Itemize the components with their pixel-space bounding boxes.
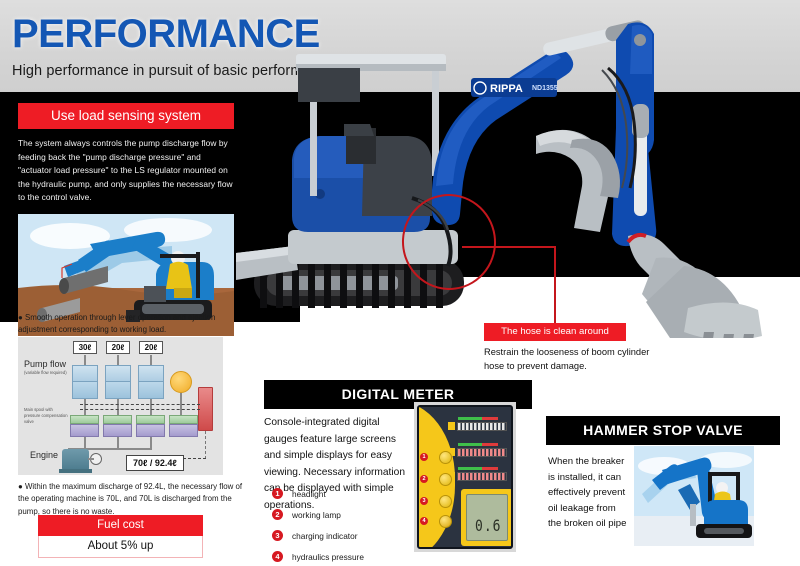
spool-green-4 (169, 415, 198, 424)
pump-column-3 (138, 365, 164, 399)
tag-connector-2 (117, 355, 119, 365)
pump-to-spool-3 (150, 399, 152, 415)
feedback-dash-2 (80, 409, 200, 410)
hammer-stop-valve-block: HAMMER STOP VALVE When the breaker is in… (546, 416, 780, 445)
engine-base (59, 469, 92, 473)
lcd-hour-meter-value: 0.6 (475, 517, 501, 536)
engine-block (62, 449, 89, 470)
tag-connector-1 (84, 355, 86, 365)
legend-number: 2 (272, 509, 283, 520)
svg-text:ND1355: ND1355 (532, 85, 558, 92)
legend-item-charging-indicator: 3 charging indicator (272, 530, 364, 541)
badge-1: 1 (420, 453, 428, 461)
hose-callout: The hose is clean around Restrain the lo… (484, 323, 626, 374)
legend-label: hydraulics pressure (292, 552, 364, 562)
badge-4: 4 (420, 517, 428, 525)
pump-column-2 (105, 365, 131, 399)
callout-leader-horizontal (462, 246, 556, 248)
legend-label: headlight (292, 489, 326, 499)
pump-box-top (105, 365, 131, 382)
gauge-segments (457, 472, 507, 481)
control-valve-bar (198, 387, 213, 431)
fuel-icon (448, 422, 455, 430)
pump-column-1 (72, 365, 98, 399)
output-flow-tag: 70ℓ / 92.4ℓ (126, 455, 184, 471)
spool-purple-2 (103, 424, 132, 437)
gauge-segments (457, 448, 507, 457)
hose-callout-text: Restrain the looseness of boom cylinder … (484, 346, 664, 374)
hammer-stop-body: When the breaker is installed, it can ef… (548, 454, 628, 532)
spool-green-2 (103, 415, 132, 424)
knob-hydraulics-pressure[interactable] (439, 515, 452, 528)
engine-label: Engine (30, 450, 58, 460)
pump-flow-sublabel: (variable flow required) (24, 370, 67, 375)
badge-3: 3 (420, 497, 428, 505)
breaker-excavator-illustration (634, 446, 754, 546)
load-sensing-block: Use load sensing system The system alway… (18, 103, 234, 336)
load-sensing-note: ● Smooth operation through lever operati… (18, 312, 240, 337)
pump-box-top (138, 365, 164, 382)
pump-shaft (88, 458, 94, 460)
callout-leader-vertical (554, 246, 556, 324)
pump-box-bottom (72, 382, 98, 399)
gauge-segments (457, 422, 507, 431)
lcd-bezel: 0.6 (461, 489, 513, 546)
hero-excavator-photo: RIPPA ND1355 (236, 8, 800, 338)
lcd-screen: 0.6 (466, 494, 508, 541)
spool-purple-3 (136, 424, 165, 437)
gauge-temp (447, 445, 513, 458)
legend-item-working-lamp: 2 working lamp (272, 509, 364, 520)
fuel-cost-value: About 5% up (38, 536, 203, 558)
hammer-stop-photo (634, 446, 754, 546)
gauge-scale-top (458, 467, 498, 470)
flow-tag-1: 30ℓ (73, 341, 97, 354)
spool-green-3 (136, 415, 165, 424)
gauge-oil (447, 469, 513, 482)
badge-2: 2 (420, 475, 428, 483)
pump-to-spool-2 (117, 399, 119, 415)
knob-headlight[interactable] (439, 451, 452, 464)
meter-faceplate: 1 2 3 4 0.6 (417, 405, 513, 549)
digital-meter-legend: 1 headlight 2 working lamp 3 charging in… (272, 488, 364, 566)
controlvalve-return-dash (205, 431, 206, 459)
excavator-illustration: RIPPA ND1355 (236, 8, 800, 338)
pump-box-bottom (138, 382, 164, 399)
pump-flow-label: Pump flow (24, 359, 66, 369)
fuel-cost-box: Fuel cost About 5% up (38, 515, 203, 558)
knob-charging-indicator[interactable] (439, 495, 452, 508)
fuel-cost-banner: Fuel cost (38, 515, 203, 536)
poster-page: PERFORMANCE High performance in pursuit … (0, 0, 800, 566)
legend-item-hydraulics-pressure: 4 hydraulics pressure (272, 551, 364, 562)
legend-number: 1 (272, 488, 283, 499)
tag-connector-3 (150, 355, 152, 365)
pump-to-spool-1 (84, 399, 86, 415)
gauge-scale-top (458, 417, 498, 420)
flow-tag-2: 20ℓ (106, 341, 130, 354)
legend-label: charging indicator (292, 531, 358, 541)
pump-box-bottom (105, 382, 131, 399)
load-sensing-body: The system always controls the pump disc… (18, 137, 234, 205)
spool-purple-1 (70, 424, 99, 437)
svg-text:RIPPA: RIPPA (490, 83, 523, 95)
digital-meter-block: DIGITAL METER Console-integrated digital… (264, 380, 532, 409)
schematic-note: ● Within the maximum discharge of 92.4L,… (18, 481, 243, 518)
flow-tag-3: 20ℓ (139, 341, 163, 354)
digital-meter-panel-photo: 1 2 3 4 0.6 (414, 402, 516, 552)
knob-working-lamp[interactable] (439, 473, 452, 486)
ls-regulator-node (170, 371, 192, 393)
feedback-dash-1 (80, 404, 200, 405)
load-sensing-banner: Use load sensing system (18, 103, 234, 129)
pump-box-top (72, 365, 98, 382)
hydraulic-schematic: Pump flow (variable flow required) Main … (18, 337, 223, 475)
spool-purple-4 (169, 424, 198, 437)
gauge-fuel (447, 419, 513, 432)
gauge-scale-top (458, 443, 498, 446)
main-spool-label: Main spool with pressure compensation va… (24, 407, 68, 425)
hose-callout-banner: The hose is clean around (484, 323, 626, 341)
legend-number: 3 (272, 530, 283, 541)
legend-number: 4 (272, 551, 283, 562)
legend-label: working lamp (292, 510, 341, 520)
spool-green-1 (70, 415, 99, 424)
legend-item-headlight: 1 headlight (272, 488, 364, 499)
hammer-stop-banner: HAMMER STOP VALVE (546, 416, 780, 445)
